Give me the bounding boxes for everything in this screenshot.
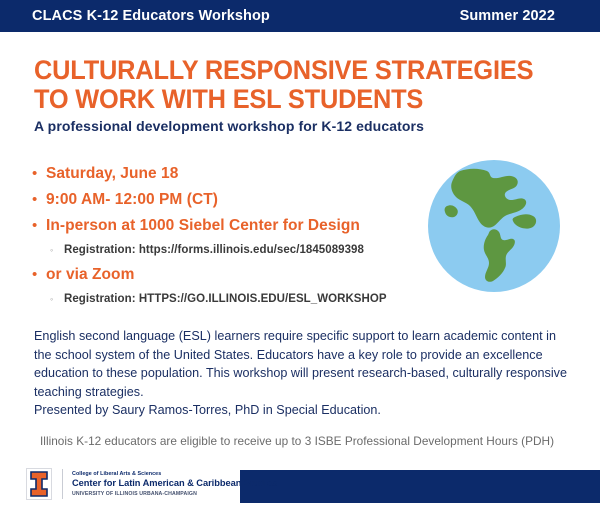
logo-college-line: College of Liberal Arts & Sciences <box>72 471 277 479</box>
in-person-registration-link[interactable]: Registration: https://forms.illinois.edu… <box>64 240 364 260</box>
bullet-dot-icon: • <box>32 263 46 287</box>
workshop-series-title: CLACS K-12 Educators Workshop <box>32 8 270 24</box>
list-item: • or via Zoom <box>32 263 422 287</box>
list-item-sub: ◦ Registration: https://forms.illinois.e… <box>32 240 422 260</box>
bullet-dot-icon: • <box>32 162 46 186</box>
presenter-line: Presented by Saury Ramos-Torres, PhD in … <box>34 401 574 420</box>
event-time: 9:00 AM- 12:00 PM (CT) <box>46 188 218 212</box>
list-item: • In-person at 1000 Siebel Center for De… <box>32 214 422 238</box>
bullet-dot-icon: • <box>32 188 46 212</box>
list-item: • 9:00 AM- 12:00 PM (CT) <box>32 188 422 212</box>
zoom-registration-link[interactable]: Registration: HTTPS://GO.ILLINOIS.EDU/ES… <box>64 289 387 309</box>
hollow-bullet-icon: ◦ <box>50 289 64 309</box>
logo-center-line: Center for Latin American & Caribbean St… <box>72 478 277 490</box>
page-title-line-1: CULTURALLY RESPONSIVE STRATEGIES <box>34 56 485 85</box>
description-block: English second language (ESL) learners r… <box>34 327 574 420</box>
logo-divider <box>62 469 63 499</box>
logo-wordmark: College of Liberal Arts & Sciences Cente… <box>72 471 277 498</box>
event-date: Saturday, June 18 <box>46 162 178 186</box>
page-subtitle: A professional development workshop for … <box>34 118 424 134</box>
illinois-block-i-icon <box>26 468 52 500</box>
page-title-line-2: TO WORK WITH ESL STUDENTS <box>34 85 485 114</box>
event-details-list: • Saturday, June 18 • 9:00 AM- 12:00 PM … <box>32 162 422 312</box>
term-label: Summer 2022 <box>460 8 555 24</box>
footer-logo: College of Liberal Arts & Sciences Cente… <box>26 466 277 502</box>
pdh-credit-note: Illinois K-12 educators are eligible to … <box>40 434 554 448</box>
page-title: CULTURALLY RESPONSIVE STRATEGIES TO WORK… <box>34 56 514 114</box>
list-item: • Saturday, June 18 <box>32 162 422 186</box>
hollow-bullet-icon: ◦ <box>50 240 64 260</box>
globe-americas-icon <box>427 159 561 293</box>
description-paragraph: English second language (ESL) learners r… <box>34 327 574 401</box>
event-virtual-option: or via Zoom <box>46 263 134 287</box>
logo-university-line: UNIVERSITY OF ILLINOIS URBANA-CHAMPAIGN <box>72 490 277 498</box>
header-bar: CLACS K-12 Educators Workshop Summer 202… <box>0 0 600 32</box>
list-item-sub: ◦ Registration: HTTPS://GO.ILLINOIS.EDU/… <box>32 289 422 309</box>
footer-band <box>240 470 600 503</box>
bullet-dot-icon: • <box>32 214 46 238</box>
event-location: In-person at 1000 Siebel Center for Desi… <box>46 214 360 238</box>
